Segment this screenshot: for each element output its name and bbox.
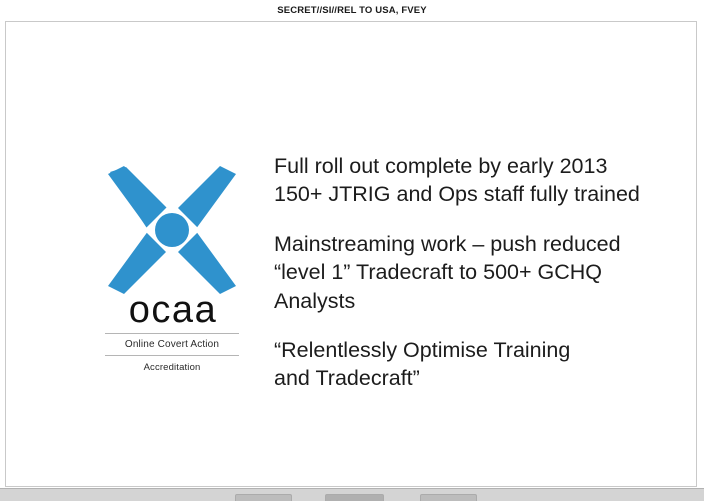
ocaa-tagline: Online Covert Action [102, 339, 242, 350]
classification-banner-text: SECRET//SI//REL TO USA, FVEY [277, 5, 427, 16]
body-paragraph-3: “Relentlessly Optimise Training and Trad… [274, 336, 686, 393]
ocaa-logo-center-dot [155, 213, 189, 247]
slide-canvas: ocaa Online Covert Action Accreditation … [5, 21, 697, 487]
bottom-toolbar [0, 488, 704, 501]
logo-divider-bottom [105, 355, 239, 356]
ocaa-subtagline: Accreditation [102, 362, 242, 373]
logo-divider-top [105, 333, 239, 334]
body-paragraph-1: Full roll out complete by early 2013 150… [274, 152, 686, 209]
classification-banner: SECRET//SI//REL TO USA, FVEY [0, 0, 704, 21]
ocaa-logo: ocaa Online Covert Action Accreditation [102, 162, 242, 373]
ocaa-x-logo-mark [104, 162, 240, 298]
ocaa-wordmark: ocaa [104, 292, 242, 328]
body-paragraph-2: Mainstreaming work – push reduced “level… [274, 230, 686, 315]
slide-body-text: Full roll out complete by early 2013 150… [274, 152, 686, 393]
